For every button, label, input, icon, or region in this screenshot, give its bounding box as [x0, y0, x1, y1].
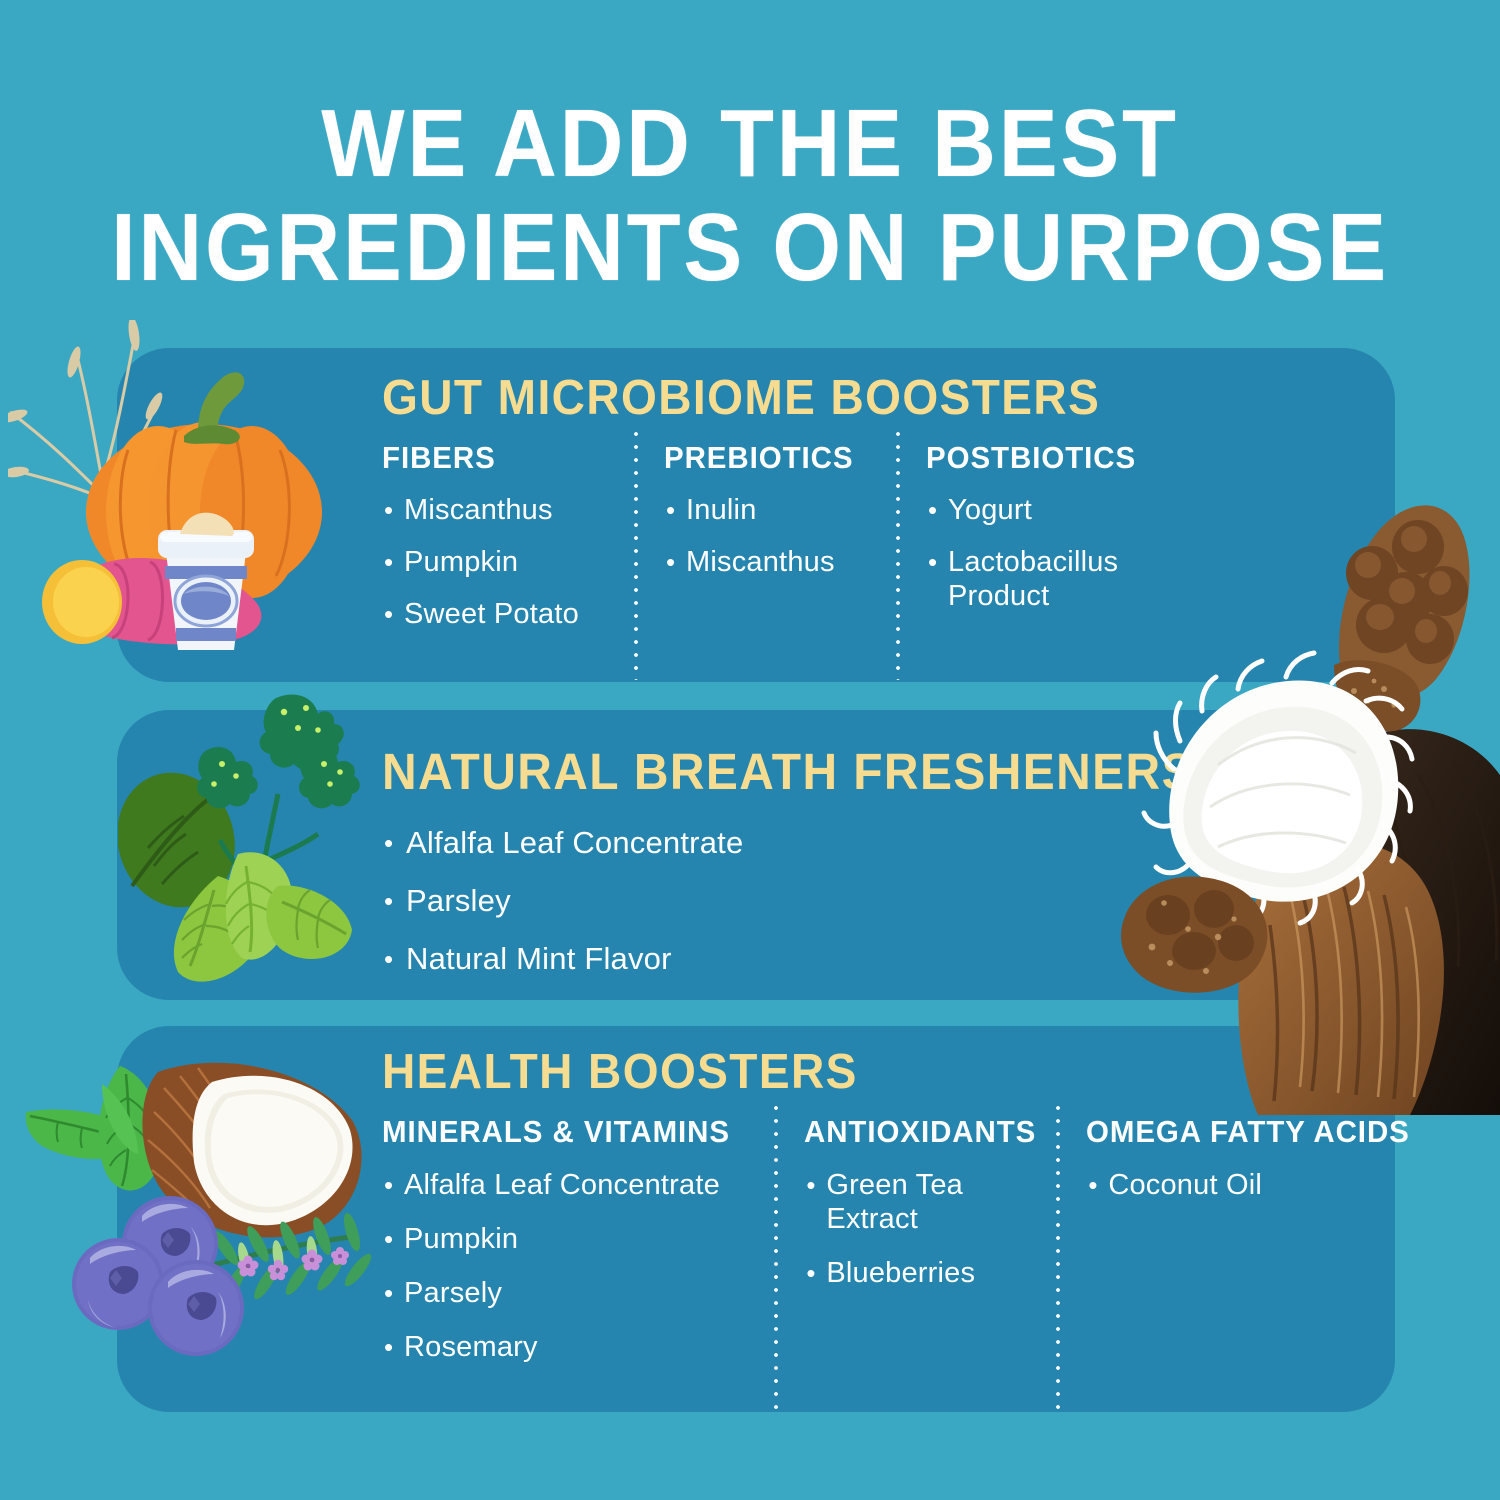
column-title-fibers: FIBERS [382, 440, 597, 476]
column-omega-fatty-acids: OMEGA FATTY ACIDS Coconut Oil [1056, 1114, 1386, 1374]
list-item: Yogurt [926, 484, 1170, 536]
column-group-health: MINERALS & VITAMINS Alfalfa Leaf Concent… [382, 1114, 1371, 1374]
list-minerals-vitamins: Alfalfa Leaf Concentrate Pumpkin Parsely… [382, 1158, 748, 1374]
list-fibers: Miscanthus Pumpkin Sweet Potato [382, 484, 608, 640]
column-group-breath: Alfalfa Leaf Concentrate Parsley Natural… [382, 814, 1371, 988]
list-item: Alfalfa Leaf Concentrate [382, 814, 1116, 872]
card-heading-health: HEALTH BOOSTERS [382, 1044, 1312, 1100]
dotted-divider [774, 1106, 778, 1414]
list-item: Sweet Potato [382, 588, 608, 640]
list-item: Green Tea Extract [804, 1158, 1030, 1246]
column-fibers: FIBERS Miscanthus Pumpkin Sweet Potato [382, 440, 634, 640]
list-item: Lactobacillus Product [926, 536, 1170, 622]
ingredients-infographic: WE ADD THE BEST INGREDIENTS ON PURPOSE G… [0, 0, 1500, 1500]
list-prebiotics: Inulin Miscanthus [664, 484, 870, 588]
page-title: WE ADD THE BEST INGREDIENTS ON PURPOSE [0, 92, 1500, 300]
column-title-postbiotics: POSTBIOTICS [926, 440, 1158, 476]
column-prebiotics: PREBIOTICS Inulin Miscanthus [634, 440, 896, 640]
list-item: Inulin [664, 484, 870, 536]
list-item: Coconut Oil [1086, 1158, 1360, 1212]
list-item: Alfalfa Leaf Concentrate [382, 1158, 748, 1212]
column-postbiotics: POSTBIOTICS Yogurt Lactobacillus Product [896, 440, 1196, 640]
dotted-divider [634, 432, 638, 680]
list-breath: Alfalfa Leaf Concentrate Parsley Natural… [382, 814, 1116, 988]
list-item: Miscanthus [382, 484, 608, 536]
list-omega-fatty-acids: Coconut Oil [1086, 1158, 1360, 1212]
card-heading-breath: NATURAL BREATH FRESHENERS [382, 744, 1312, 800]
card-health-boosters: HEALTH BOOSTERS MINERALS & VITAMINS Alfa… [117, 1026, 1395, 1412]
column-title-minerals-vitamins: MINERALS & VITAMINS [382, 1114, 730, 1150]
column-title-antioxidants: ANTIOXIDANTS [804, 1114, 1019, 1150]
list-item: Pumpkin [382, 536, 608, 588]
column-group-gut: FIBERS Miscanthus Pumpkin Sweet Potato P… [382, 440, 1371, 640]
list-item: Miscanthus [664, 536, 870, 588]
column-antioxidants: ANTIOXIDANTS Green Tea Extract Blueberri… [774, 1114, 1056, 1374]
dotted-divider [1056, 1106, 1060, 1414]
card-natural-breath-fresheners: NATURAL BREATH FRESHENERS Alfalfa Leaf C… [117, 710, 1395, 1000]
list-item: Natural Mint Flavor [382, 930, 1116, 988]
column-breath-items: Alfalfa Leaf Concentrate Parsley Natural… [382, 814, 1142, 988]
column-minerals-vitamins: MINERALS & VITAMINS Alfalfa Leaf Concent… [382, 1114, 774, 1374]
title-line-1: WE ADD THE BEST [60, 92, 1440, 196]
title-line-2: INGREDIENTS ON PURPOSE [60, 196, 1440, 300]
list-item: Rosemary [382, 1320, 748, 1374]
list-postbiotics: Yogurt Lactobacillus Product [926, 484, 1170, 622]
card-gut-microbiome-boosters: GUT MICROBIOME BOOSTERS FIBERS Miscanthu… [117, 348, 1395, 682]
column-title-prebiotics: PREBIOTICS [664, 440, 860, 476]
card-heading-gut: GUT MICROBIOME BOOSTERS [382, 370, 1312, 426]
list-item: Blueberries [804, 1246, 1030, 1300]
list-item: Parsely [382, 1266, 748, 1320]
column-title-omega-fatty-acids: OMEGA FATTY ACIDS [1086, 1114, 1346, 1150]
list-item: Pumpkin [382, 1212, 748, 1266]
dotted-divider [896, 432, 900, 680]
list-antioxidants: Green Tea Extract Blueberries [804, 1158, 1030, 1300]
list-item: Parsley [382, 872, 1116, 930]
